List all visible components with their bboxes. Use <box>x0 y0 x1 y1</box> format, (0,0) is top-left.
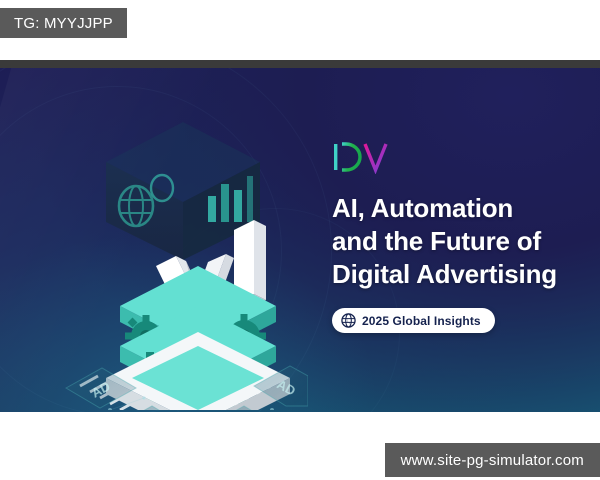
screenshot-root: TG: MYYJJPP <box>0 0 600 480</box>
ai-chip-stack-illustration: AD AD AD AD <box>58 110 308 410</box>
top-divider-strip <box>0 60 600 68</box>
telegram-tag-label: TG: MYYJJPP <box>14 15 113 32</box>
site-watermark-label: www.site-pg-simulator.com <box>401 452 584 469</box>
headline-line-3: Digital Advertising <box>332 258 582 291</box>
global-insights-badge[interactable]: 2025 Global Insights <box>332 308 495 333</box>
page-title: AI, Automation and the Future of Digital… <box>332 192 582 290</box>
promo-banner: AD AD AD AD <box>0 68 600 412</box>
dv-logo <box>332 140 582 174</box>
banner-text-block: AI, Automation and the Future of Digital… <box>332 140 582 333</box>
global-insights-label: 2025 Global Insights <box>362 314 481 328</box>
telegram-tag-badge: TG: MYYJJPP <box>0 8 127 38</box>
site-watermark: www.site-pg-simulator.com <box>385 443 600 477</box>
globe-icon <box>341 313 356 328</box>
headline-line-2: and the Future of <box>332 225 582 258</box>
headline-line-1: AI, Automation <box>332 192 582 225</box>
